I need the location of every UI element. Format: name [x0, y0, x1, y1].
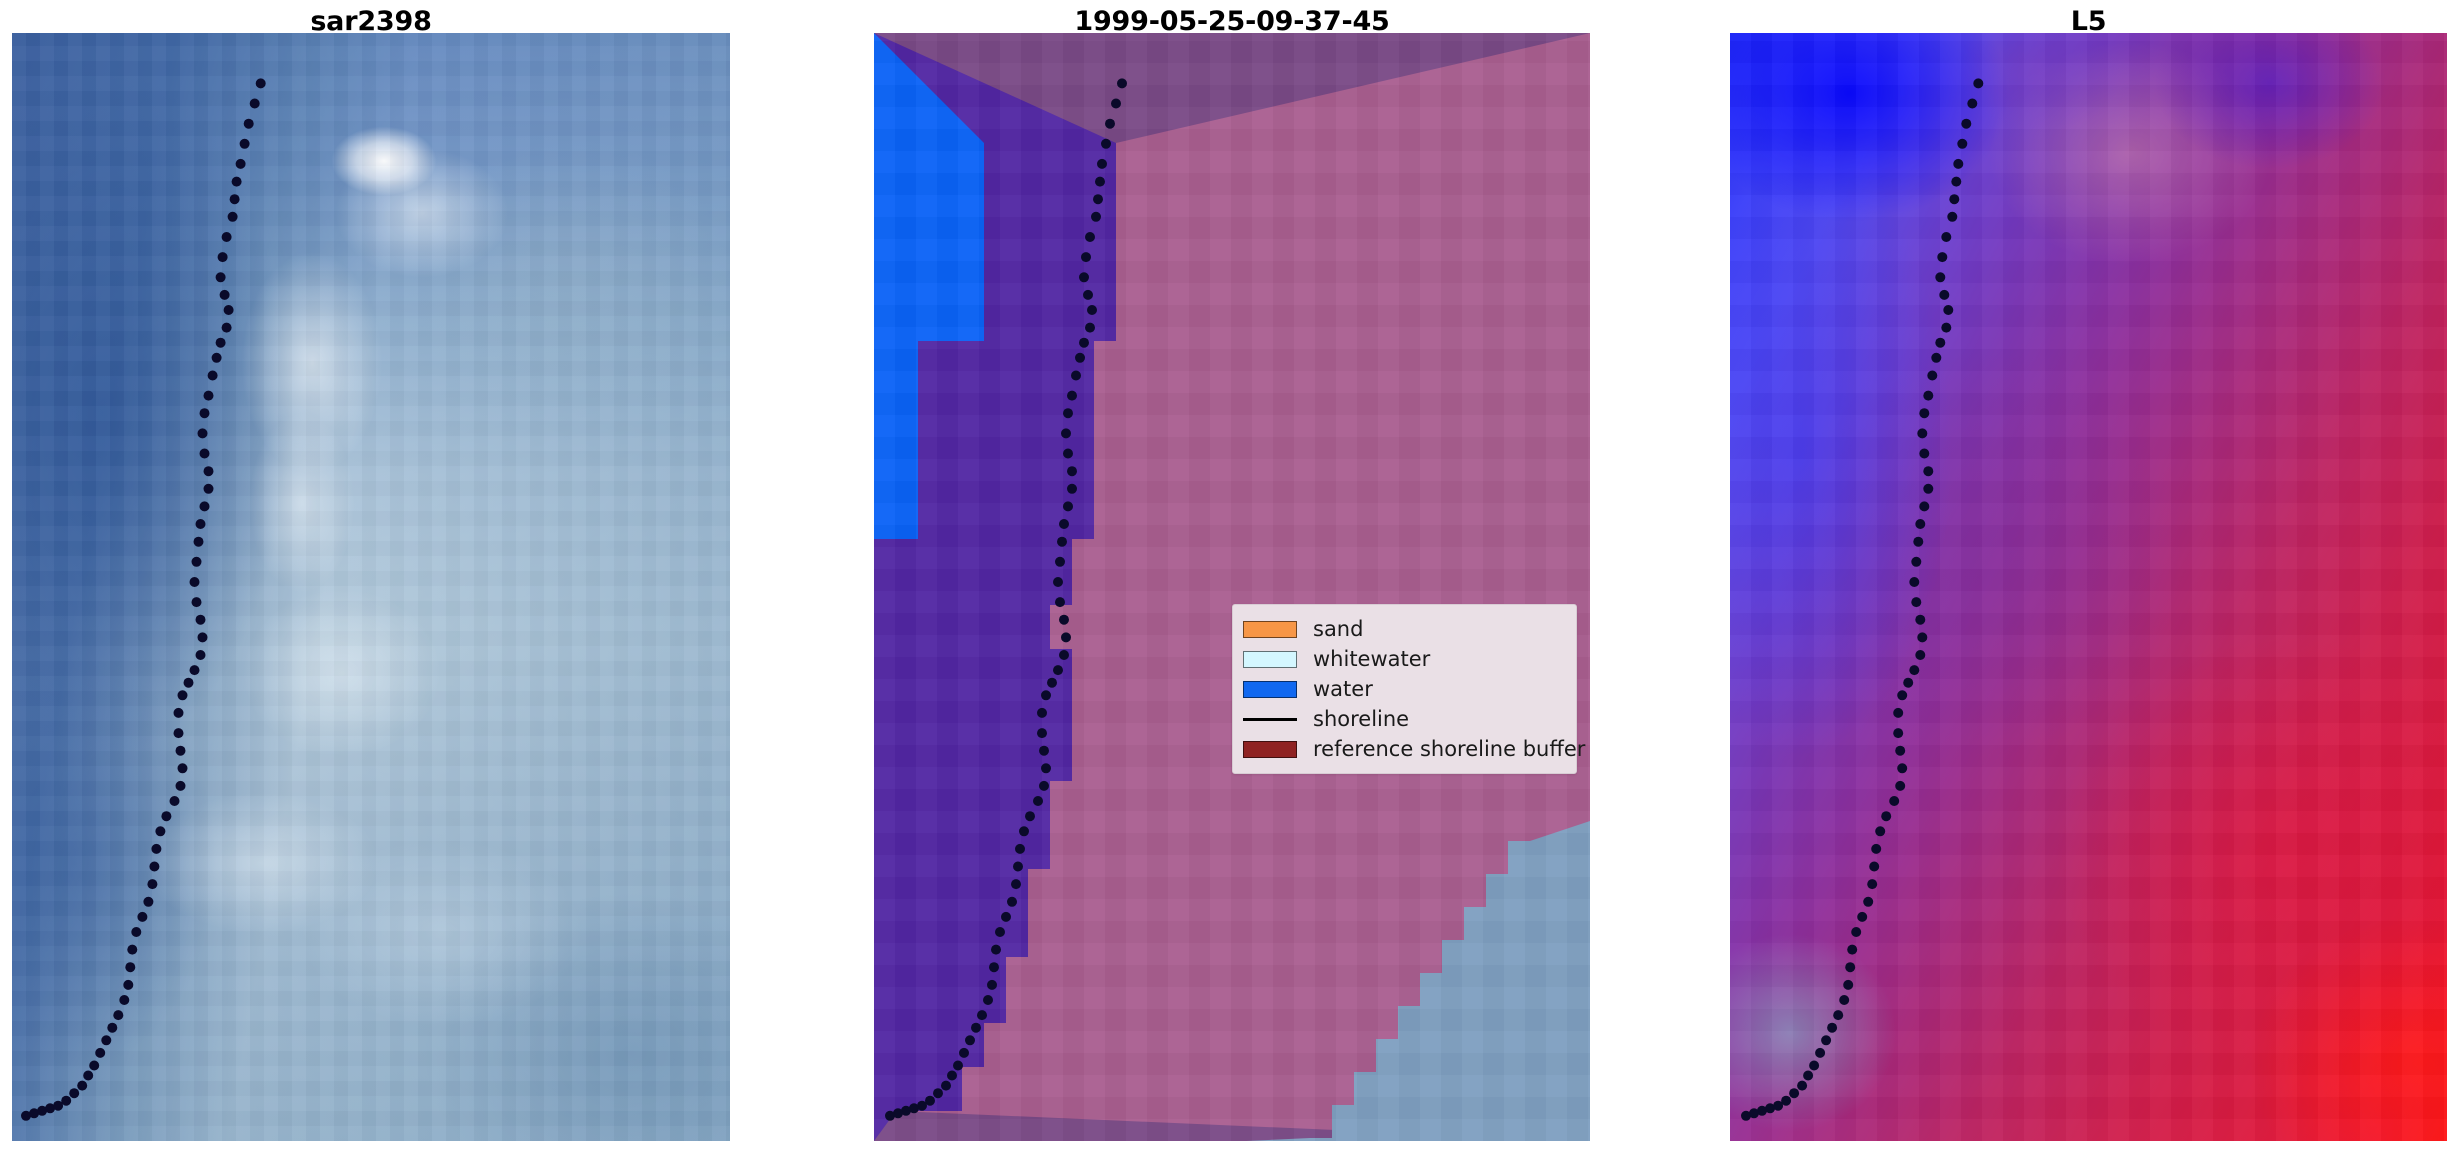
legend-label-water: water	[1313, 679, 1373, 700]
legend-item-whitewater[interactable]: whitewater	[1243, 644, 1566, 674]
legend-item-water[interactable]: water	[1243, 674, 1566, 704]
l5-pixel-texture	[1730, 33, 2447, 1141]
classification-panel[interactable]	[874, 33, 1590, 1141]
sar-speckle-texture	[12, 33, 730, 1141]
legend-item-sand[interactable]: sand	[1243, 614, 1566, 644]
legend-item-shoreline[interactable]: shoreline	[1243, 704, 1566, 734]
sar-image	[12, 33, 730, 1141]
figure-canvas: sar2398 1999-05-25-09-37-45 L5	[0, 0, 2460, 1157]
sand-color-swatch	[1243, 621, 1297, 638]
shoreline-line-swatch	[1243, 711, 1297, 728]
legend-label-whitewater: whitewater	[1313, 649, 1430, 670]
legend-label-reference-shoreline-buffer: reference shoreline buffer	[1313, 739, 1585, 760]
whitewater-color-swatch	[1243, 651, 1297, 668]
legend-box[interactable]: sand whitewater water shoreline referenc…	[1232, 604, 1577, 774]
legend-label-shoreline: shoreline	[1313, 709, 1409, 730]
l5-image	[1730, 33, 2447, 1141]
classification-pixel-texture	[874, 33, 1590, 1141]
legend-item-reference-shoreline-buffer[interactable]: reference shoreline buffer	[1243, 734, 1566, 764]
classification-image	[874, 33, 1590, 1141]
legend-label-sand: sand	[1313, 619, 1363, 640]
water-color-swatch	[1243, 681, 1297, 698]
l5-panel[interactable]	[1730, 33, 2447, 1141]
sar-panel[interactable]	[12, 33, 730, 1141]
reference-buffer-color-swatch	[1243, 741, 1297, 758]
